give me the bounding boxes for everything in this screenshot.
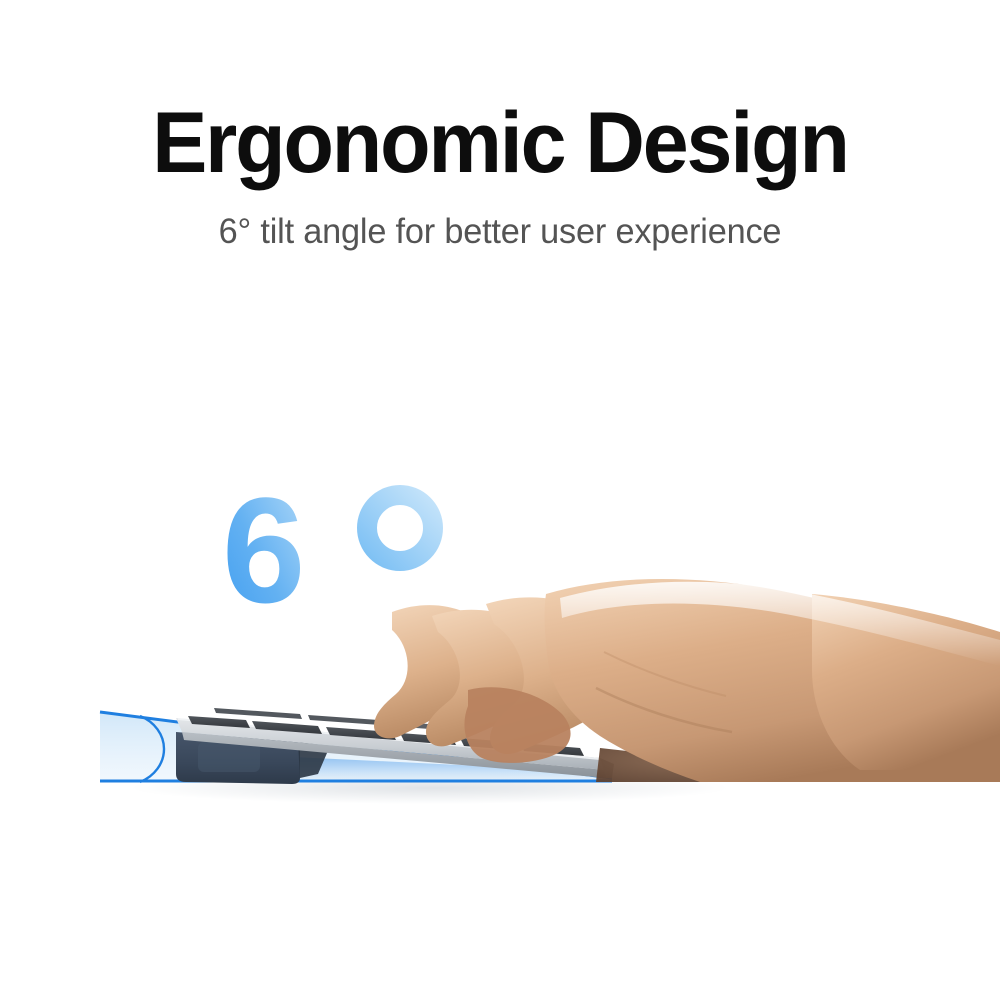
scene-description: A hand typing on a tilted low-profile ke… <box>0 850 1 851</box>
product-scene: A hand typing on a tilted low-profile ke… <box>0 520 1000 850</box>
keyboard-foot-highlight <box>198 742 260 772</box>
headline-block: Ergonomic Design 6° tilt angle for bette… <box>0 100 1000 252</box>
page-subtitle: 6° tilt angle for better user experience <box>10 186 990 252</box>
product-feature-poster: Ergonomic Design 6° tilt angle for bette… <box>0 0 1000 1000</box>
page-title: Ergonomic Design <box>20 100 980 186</box>
key <box>214 708 302 719</box>
product-scene-svg <box>0 520 1000 850</box>
